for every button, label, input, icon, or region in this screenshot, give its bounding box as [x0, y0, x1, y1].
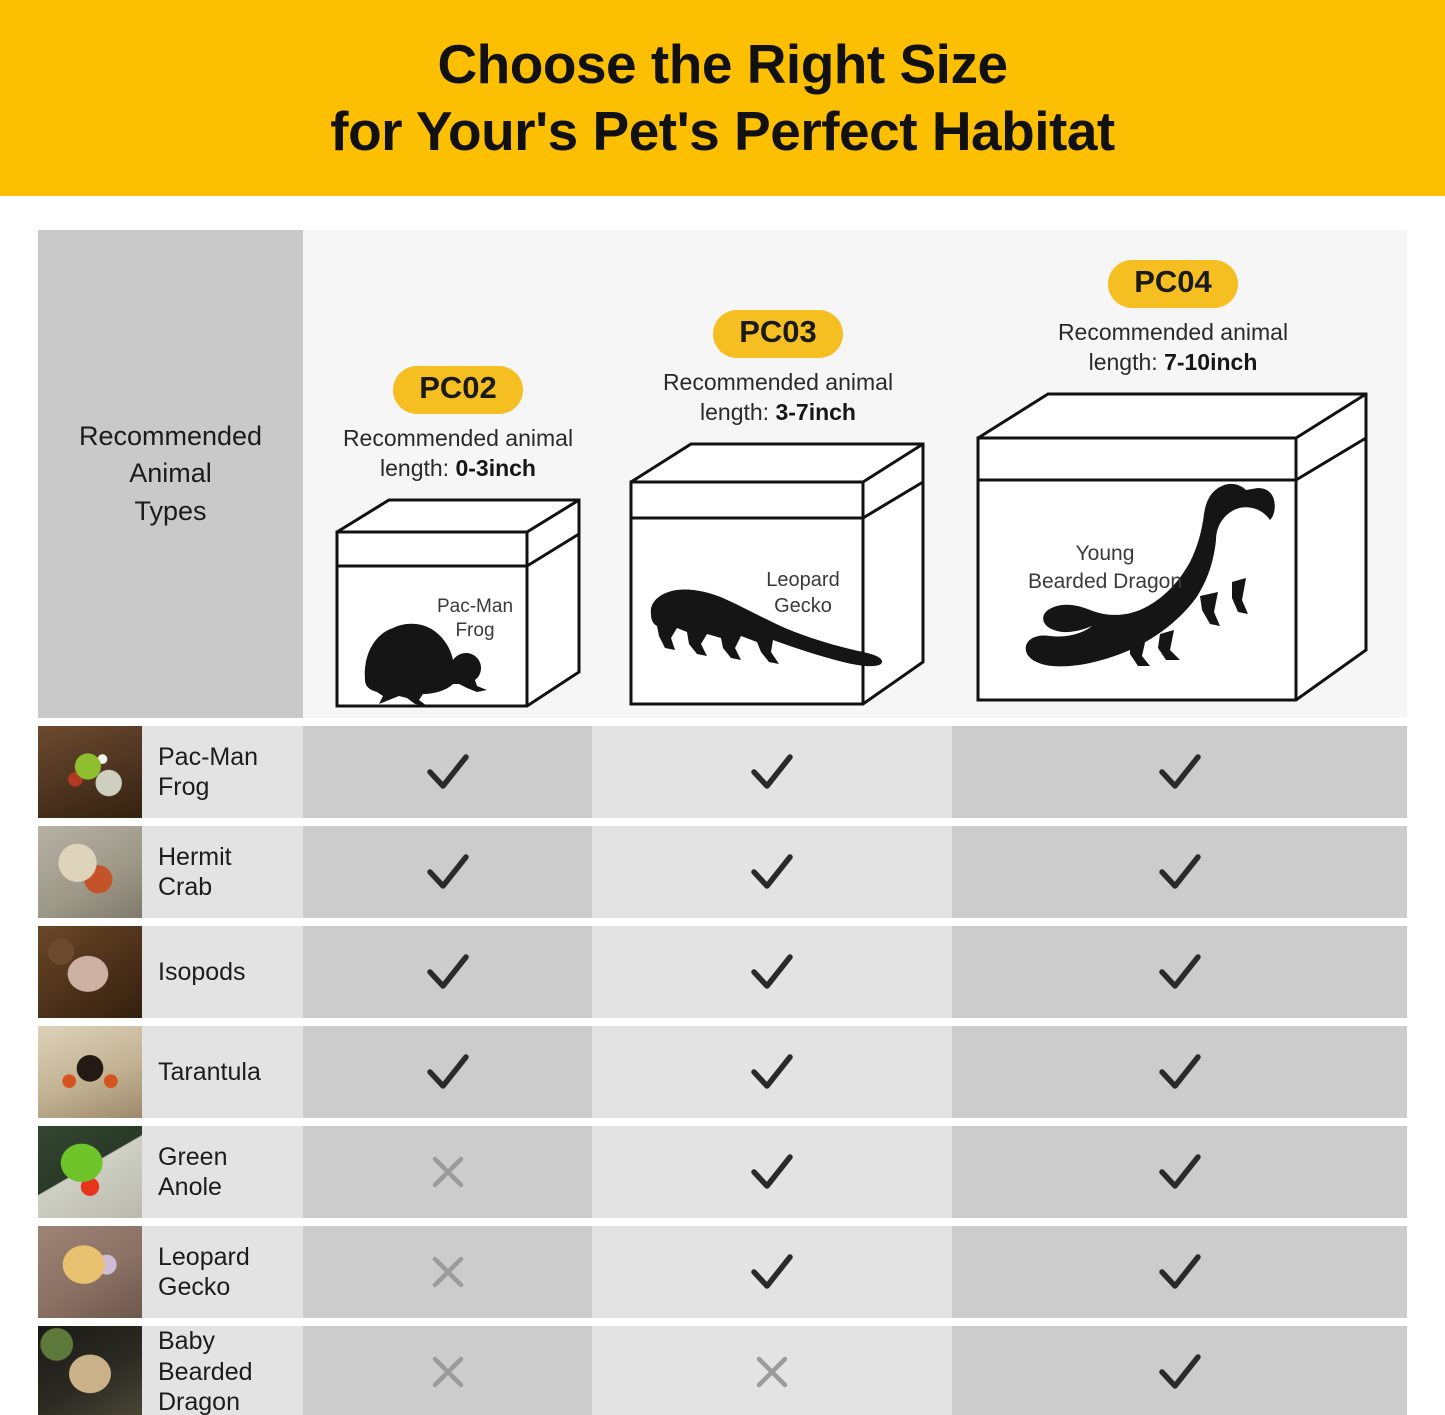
animal-name-line-1: Hermit — [158, 842, 232, 873]
cell-pc03[interactable] — [592, 1126, 952, 1218]
check-icon — [1154, 1350, 1206, 1394]
animal-name-line-2: Crab — [158, 872, 232, 903]
cell-pc04[interactable] — [952, 1326, 1407, 1415]
check-icon — [746, 750, 798, 794]
tank-label-pc02-line1: Pac-Man — [437, 596, 513, 617]
size-description-pc02: Recommended animal length: 0-3inch — [343, 423, 573, 484]
header-label-line-1: Recommended — [79, 418, 262, 455]
cross-icon — [426, 1152, 470, 1192]
tank-label-pc03-line2: Gecko — [774, 595, 832, 617]
size-desc-pc04-line1: Recommended animal — [1058, 319, 1288, 345]
animal-name: GreenAnole — [142, 1142, 227, 1203]
animal-cell: Baby BeardedDragon — [38, 1326, 303, 1415]
table-row: LeopardGecko — [38, 1226, 1407, 1318]
badge-pc02[interactable]: PC02 — [393, 366, 523, 414]
tank-illustration-pc02: Pac-Man Frog — [327, 494, 589, 718]
animal-name-line-1: Leopard — [158, 1242, 250, 1273]
size-desc-pc03-value: 3-7inch — [775, 399, 856, 425]
banner-title-line-2: for Your's Pet's Perfect Habitat — [330, 98, 1114, 165]
check-icon — [1154, 1250, 1206, 1294]
size-column-pc04: PC04 Recommended animal length: 7-10inch — [953, 260, 1393, 718]
animal-name: Tarantula — [142, 1057, 261, 1088]
header-banner: Choose the Right Size for Your's Pet's P… — [0, 0, 1445, 196]
table-header-row: Recommended Animal Types PC02 Recommende… — [38, 230, 1407, 718]
header-label-line-2: Animal — [79, 455, 262, 492]
check-icon — [1154, 1050, 1206, 1094]
cell-pc04[interactable] — [952, 1126, 1407, 1218]
animal-name-line-2: Gecko — [158, 1272, 250, 1303]
check-icon — [1154, 950, 1206, 994]
size-desc-pc03-line1: Recommended animal — [663, 369, 893, 395]
size-desc-pc04-value: 7-10inch — [1164, 349, 1257, 375]
leopard-gecko-photo — [38, 1226, 142, 1318]
animal-cell: Isopods — [38, 926, 303, 1018]
cell-pc02[interactable] — [303, 726, 592, 818]
pac-man-frog-photo — [38, 726, 142, 818]
green-anole-photo — [38, 1126, 142, 1218]
isopods-photo — [38, 926, 142, 1018]
animal-cell: HermitCrab — [38, 826, 303, 918]
table-row: GreenAnole — [38, 1126, 1407, 1218]
cell-pc02[interactable] — [303, 1226, 592, 1318]
size-column-pc03: PC03 Recommended animal length: 3-7inch — [603, 310, 953, 718]
tank-label-pc04-line2: Bearded Dragon — [1028, 570, 1182, 593]
animal-name-line-1: Pac-Man — [158, 742, 258, 773]
check-icon — [746, 1250, 798, 1294]
cell-pc04[interactable] — [952, 726, 1407, 818]
header-label-line-3: Types — [79, 493, 262, 530]
cell-pc02[interactable] — [303, 926, 592, 1018]
tarantula-photo — [38, 1026, 142, 1118]
tank-svg-pc04: Young Bearded Dragon — [970, 388, 1376, 718]
table-row: Isopods — [38, 926, 1407, 1018]
cell-pc03[interactable] — [592, 726, 952, 818]
tank-illustration-pc03: Leopard Gecko — [623, 438, 933, 718]
cell-pc03[interactable] — [592, 926, 952, 1018]
animal-name-line-1: Baby Bearded — [158, 1326, 303, 1387]
animal-cell: GreenAnole — [38, 1126, 303, 1218]
animal-cell: LeopardGecko — [38, 1226, 303, 1318]
tank-label-pc03-line1: Leopard — [766, 569, 839, 591]
check-icon — [422, 750, 474, 794]
cell-pc04[interactable] — [952, 1226, 1407, 1318]
animal-name-line-2: Dragon — [158, 1387, 303, 1415]
cell-pc02[interactable] — [303, 1026, 592, 1118]
animal-name-line-1: Tarantula — [158, 1057, 261, 1088]
cell-pc04[interactable] — [952, 926, 1407, 1018]
cell-pc03[interactable] — [592, 826, 952, 918]
cell-pc04[interactable] — [952, 826, 1407, 918]
tank-illustration-pc04: Young Bearded Dragon — [970, 388, 1376, 718]
table-row: Baby BeardedDragon — [38, 1326, 1407, 1415]
check-icon — [746, 1050, 798, 1094]
animal-name-line-1: Green — [158, 1142, 227, 1173]
check-icon — [422, 950, 474, 994]
check-icon — [746, 850, 798, 894]
cross-icon — [426, 1252, 470, 1292]
size-desc-pc02-line1: Recommended animal — [343, 425, 573, 451]
table-row: Tarantula — [38, 1026, 1407, 1118]
cell-pc02[interactable] — [303, 1126, 592, 1218]
cell-pc03[interactable] — [592, 1226, 952, 1318]
comparison-table: Recommended Animal Types PC02 Recommende… — [38, 230, 1407, 1415]
tank-svg-pc03: Leopard Gecko — [623, 438, 933, 718]
check-icon — [1154, 850, 1206, 894]
check-icon — [422, 850, 474, 894]
animal-name: Isopods — [142, 957, 246, 988]
cell-pc03[interactable] — [592, 1326, 952, 1415]
size-description-pc04: Recommended animal length: 7-10inch — [1058, 317, 1288, 378]
badge-pc04[interactable]: PC04 — [1108, 260, 1238, 308]
banner-title-line-1: Choose the Right Size — [437, 31, 1007, 98]
badge-pc03[interactable]: PC03 — [713, 310, 843, 358]
size-column-pc02: PC02 Recommended animal length: 0-3inch — [313, 366, 603, 718]
size-desc-pc02-prefix: length: — [380, 455, 455, 481]
size-desc-pc04-prefix: length: — [1089, 349, 1164, 375]
cross-icon — [426, 1352, 470, 1392]
size-desc-pc03-prefix: length: — [700, 399, 775, 425]
tank-label-pc02-line2: Frog — [455, 620, 494, 641]
animal-name: LeopardGecko — [142, 1242, 250, 1303]
tank-svg-pc02: Pac-Man Frog — [327, 494, 589, 718]
animal-name: Baby BeardedDragon — [142, 1326, 303, 1415]
check-icon — [422, 1050, 474, 1094]
header-label-text: Recommended Animal Types — [79, 418, 262, 530]
check-icon — [746, 1150, 798, 1194]
header-label-cell: Recommended Animal Types — [38, 230, 303, 718]
animal-name-line-2: Anole — [158, 1172, 227, 1203]
cell-pc02[interactable] — [303, 1326, 592, 1415]
table-row: HermitCrab — [38, 826, 1407, 918]
cell-pc04[interactable] — [952, 1026, 1407, 1118]
animal-name-line-1: Isopods — [158, 957, 246, 988]
animal-name-line-2: Frog — [158, 772, 258, 803]
check-icon — [1154, 1150, 1206, 1194]
animal-name: HermitCrab — [142, 842, 232, 903]
baby-bearded-dragon-photo — [38, 1326, 142, 1415]
cell-pc03[interactable] — [592, 1026, 952, 1118]
cell-pc02[interactable] — [303, 826, 592, 918]
hermit-crab-photo — [38, 826, 142, 918]
infographic-page: Choose the Right Size for Your's Pet's P… — [0, 0, 1445, 1415]
animal-cell: Tarantula — [38, 1026, 303, 1118]
table-body: Pac-ManFrogHermitCrabIsopodsTarantulaGre… — [38, 726, 1407, 1415]
table-row: Pac-ManFrog — [38, 726, 1407, 818]
size-desc-pc02-value: 0-3inch — [455, 455, 536, 481]
animal-name: Pac-ManFrog — [142, 742, 258, 803]
banner-spacer — [0, 196, 1445, 210]
size-description-pc03: Recommended animal length: 3-7inch — [663, 367, 893, 428]
cross-icon — [750, 1352, 794, 1392]
check-icon — [1154, 750, 1206, 794]
check-icon — [746, 950, 798, 994]
animal-cell: Pac-ManFrog — [38, 726, 303, 818]
tank-label-pc04-line1: Young — [1076, 542, 1135, 565]
header-sizes-panel: PC02 Recommended animal length: 0-3inch — [303, 230, 1407, 718]
